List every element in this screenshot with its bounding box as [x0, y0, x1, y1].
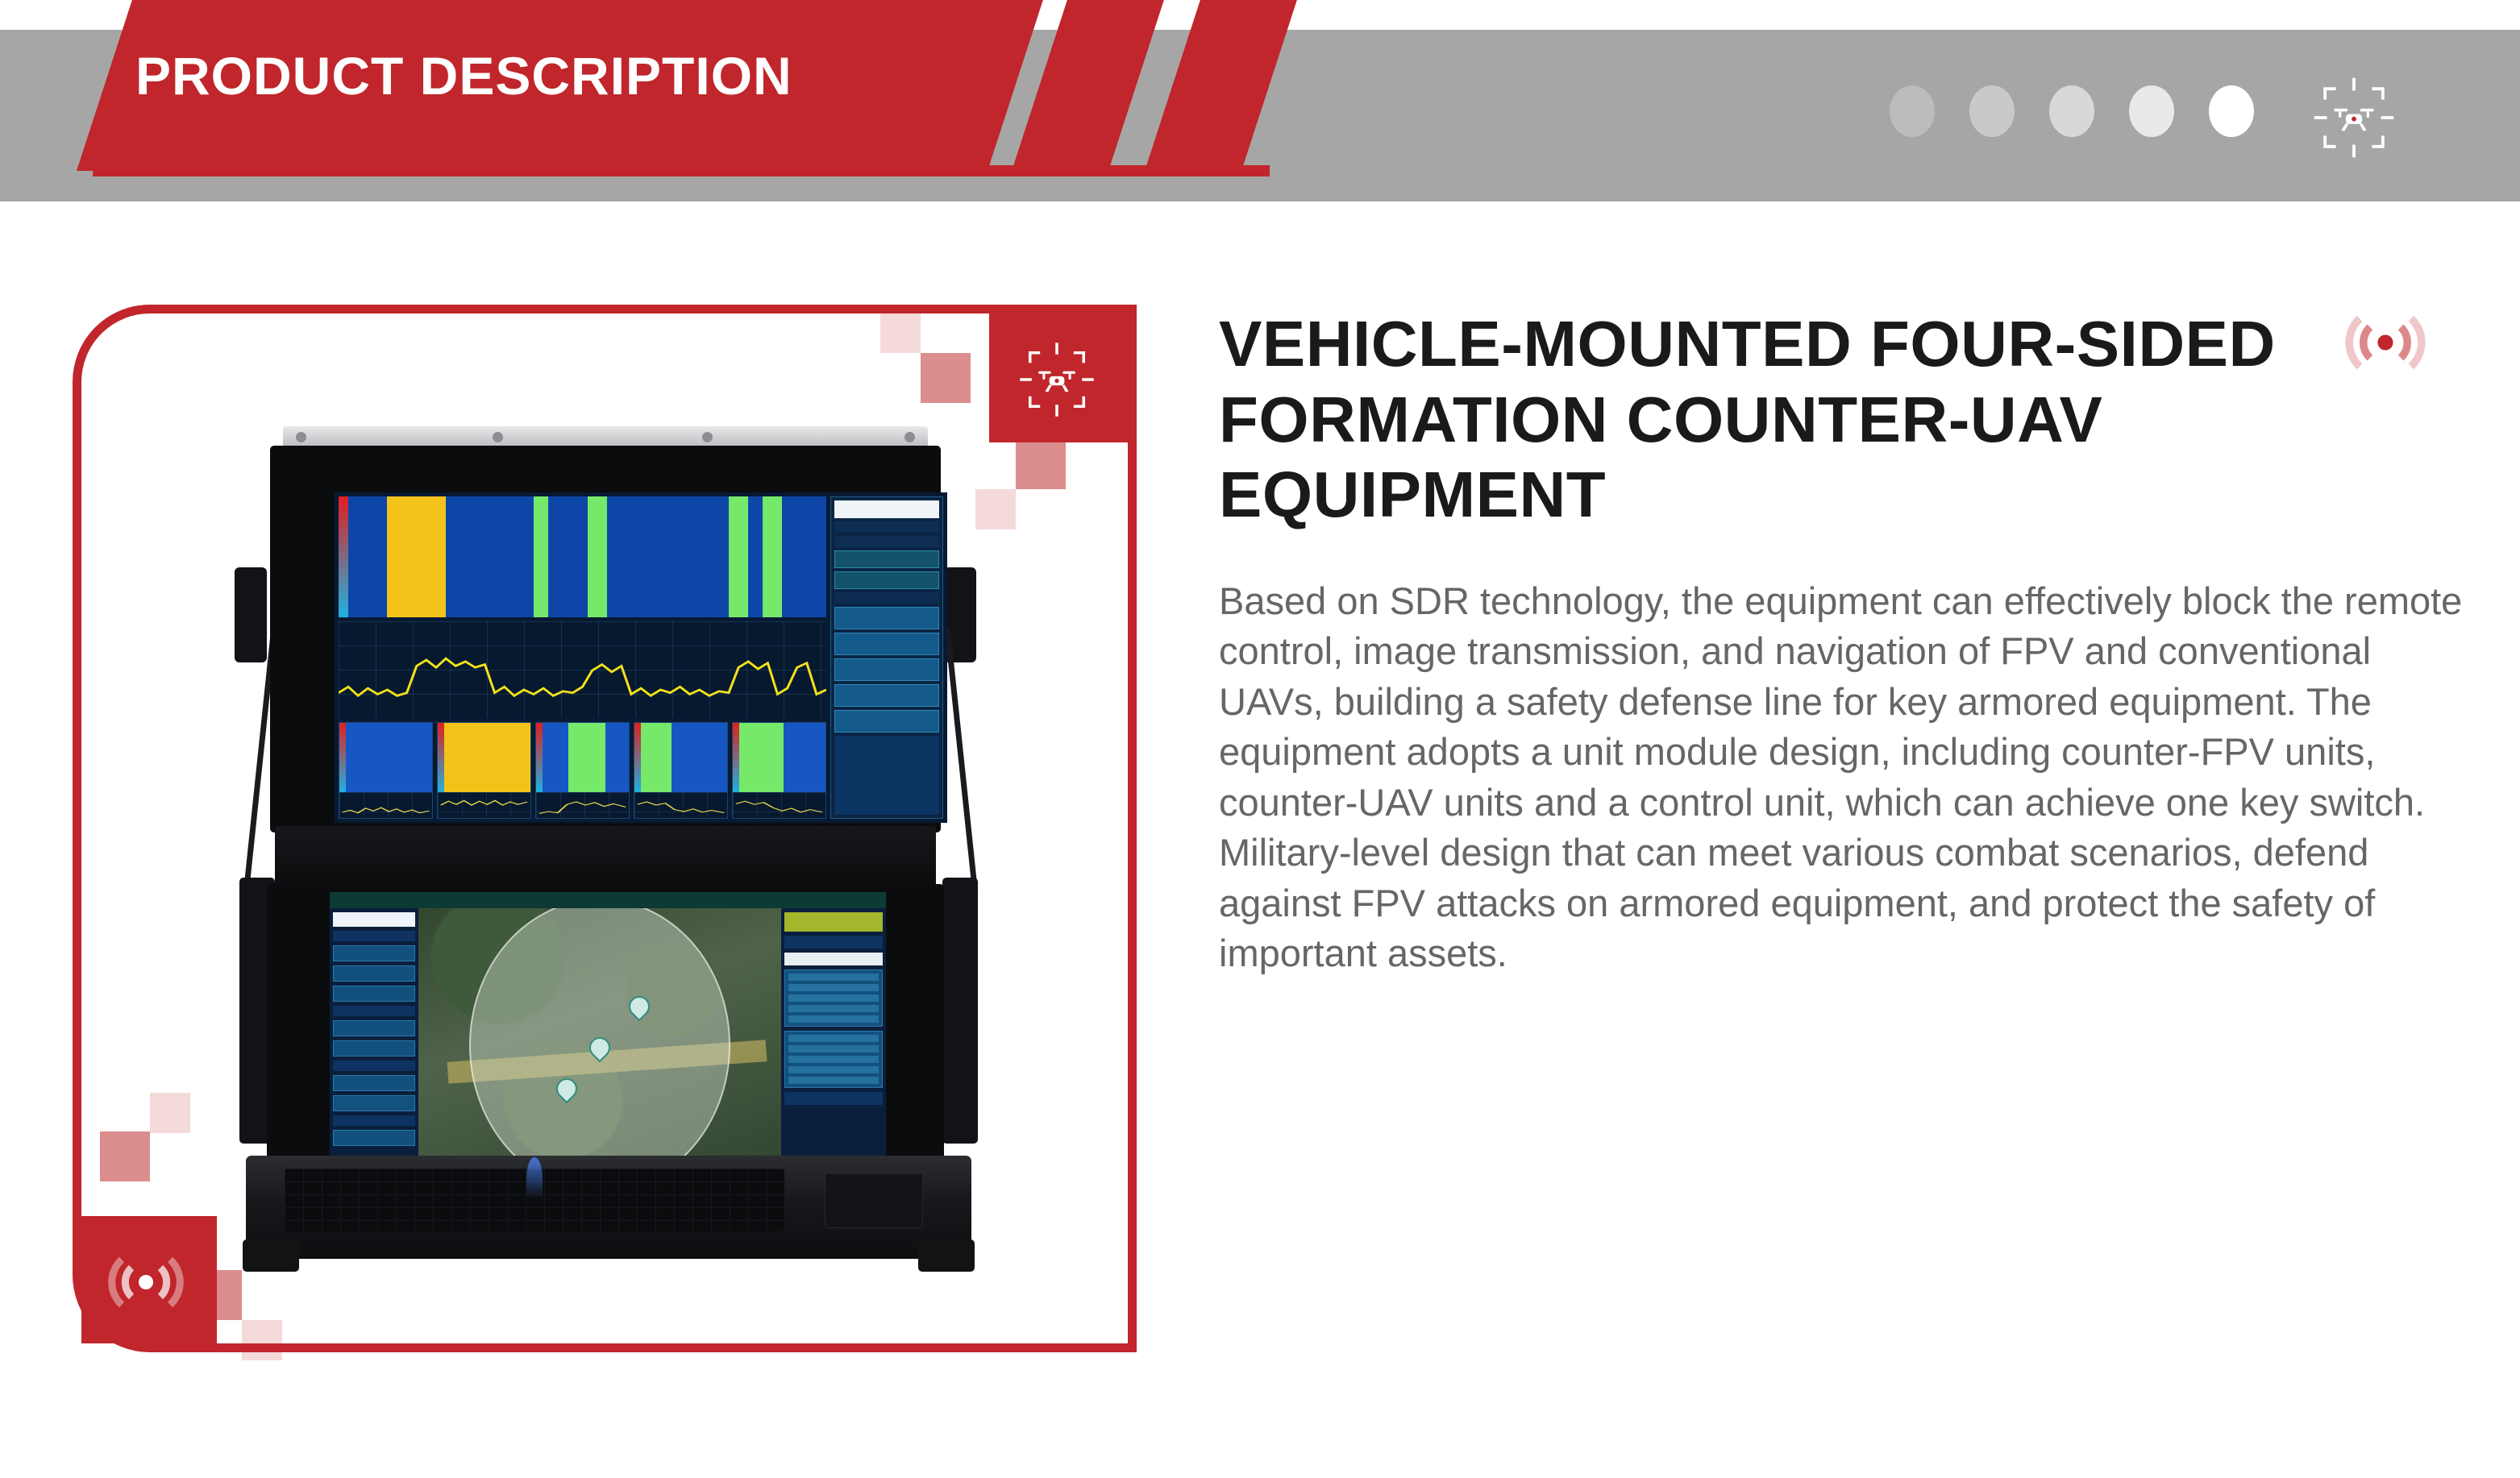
device-foot	[243, 1239, 299, 1272]
upper-display-bezel	[270, 446, 941, 832]
target-info-card[interactable]	[784, 1031, 883, 1088]
panel-list-item[interactable]	[333, 1040, 415, 1057]
signal-waves-icon	[2343, 300, 2428, 385]
channel-card[interactable]	[535, 722, 630, 819]
panel-header-bar	[834, 500, 939, 518]
panel-list-item[interactable]	[834, 684, 939, 707]
drone-target-icon	[2309, 73, 2399, 163]
device-foot	[918, 1239, 975, 1272]
map-top-toolbar[interactable]	[330, 892, 886, 908]
progress-dot-5[interactable]	[2209, 85, 2254, 137]
panel-section-label	[834, 592, 939, 604]
device-base	[246, 1156, 971, 1259]
panel-list-item[interactable]	[333, 945, 415, 961]
panel-list-item[interactable]	[333, 1130, 415, 1146]
page-title: PRODUCT DESCRIPTION	[135, 45, 792, 106]
panel-section-label	[333, 1061, 415, 1071]
map-left-panel[interactable]	[330, 908, 418, 1182]
panel-list-item[interactable]	[333, 986, 415, 1002]
channel-card[interactable]	[732, 722, 826, 819]
trackpad[interactable]	[825, 1173, 923, 1228]
progress-dot-3[interactable]	[2049, 85, 2094, 137]
support-arm-right-lower	[942, 878, 978, 1144]
product-heading: VEHICLE-MOUNTED FOUR-SIDED FORMATION COU…	[1219, 306, 2476, 533]
product-description-text: Based on SDR technology, the equipment c…	[1219, 576, 2476, 979]
strut-right	[945, 629, 978, 894]
channel-card[interactable]	[437, 722, 531, 819]
panel-section-label	[333, 931, 415, 941]
panel-list-item[interactable]	[784, 1092, 883, 1105]
panel-list-item[interactable]	[834, 607, 939, 629]
progress-dot-1[interactable]	[1890, 85, 1935, 137]
panel-list-item[interactable]	[333, 1020, 415, 1036]
progress-dots	[1890, 85, 2254, 137]
keyboard[interactable]	[285, 1169, 784, 1231]
panel-button[interactable]	[834, 571, 939, 589]
spectrum-trace-main	[339, 621, 826, 718]
panel-list-item[interactable]	[333, 1095, 415, 1111]
progress-dot-4[interactable]	[2129, 85, 2174, 137]
frame-corner-bottom-left	[81, 1216, 217, 1343]
panel-list-item[interactable]	[333, 1075, 415, 1091]
panel-list-item[interactable]	[834, 710, 939, 733]
channel-card[interactable]	[634, 722, 728, 819]
panel-section-label	[333, 1115, 415, 1126]
progress-dot-2[interactable]	[1969, 85, 2015, 137]
panel-list-item[interactable]	[834, 658, 939, 681]
map-console-screen[interactable]	[330, 892, 886, 1182]
page-header: PRODUCT DESCRIPTION	[0, 0, 2520, 201]
channel-card[interactable]	[339, 722, 433, 819]
spectrum-side-panel[interactable]	[830, 496, 943, 819]
lower-display-bezel	[267, 884, 944, 1190]
signal-waves-icon	[106, 1242, 186, 1322]
header-underline	[93, 165, 1270, 176]
drone-target-icon	[1015, 338, 1099, 421]
support-arm-left	[235, 567, 267, 662]
spectrum-analyzer-screen[interactable]	[335, 492, 947, 823]
panel-subheader	[834, 521, 939, 533]
product-photo	[235, 426, 1008, 1264]
search-input[interactable]	[333, 912, 415, 927]
panel-empty-area	[834, 736, 939, 815]
target-info-card[interactable]	[784, 969, 883, 1027]
panel-section-label	[333, 1006, 415, 1016]
panel-list-item[interactable]	[784, 936, 883, 949]
panel-list-item[interactable]	[784, 953, 883, 965]
panel-list-item[interactable]	[834, 633, 939, 655]
panel-button[interactable]	[834, 550, 939, 568]
panel-list-item[interactable]	[333, 965, 415, 982]
spectrum-main-area	[339, 496, 826, 819]
frame-corner-top-right	[989, 313, 1128, 442]
channel-card-row	[339, 722, 826, 819]
description-content: VEHICLE-MOUNTED FOUR-SIDED FORMATION COU…	[1219, 306, 2476, 979]
primary-action-button[interactable]	[784, 912, 883, 932]
map-canvas[interactable]	[418, 908, 781, 1182]
panel-section-label	[834, 536, 939, 547]
product-image-panel	[56, 297, 1143, 1368]
waterfall-plot-main	[339, 496, 826, 617]
image-red-frame	[73, 305, 1137, 1352]
map-right-panel[interactable]	[781, 908, 886, 1182]
status-led	[526, 1157, 543, 1199]
